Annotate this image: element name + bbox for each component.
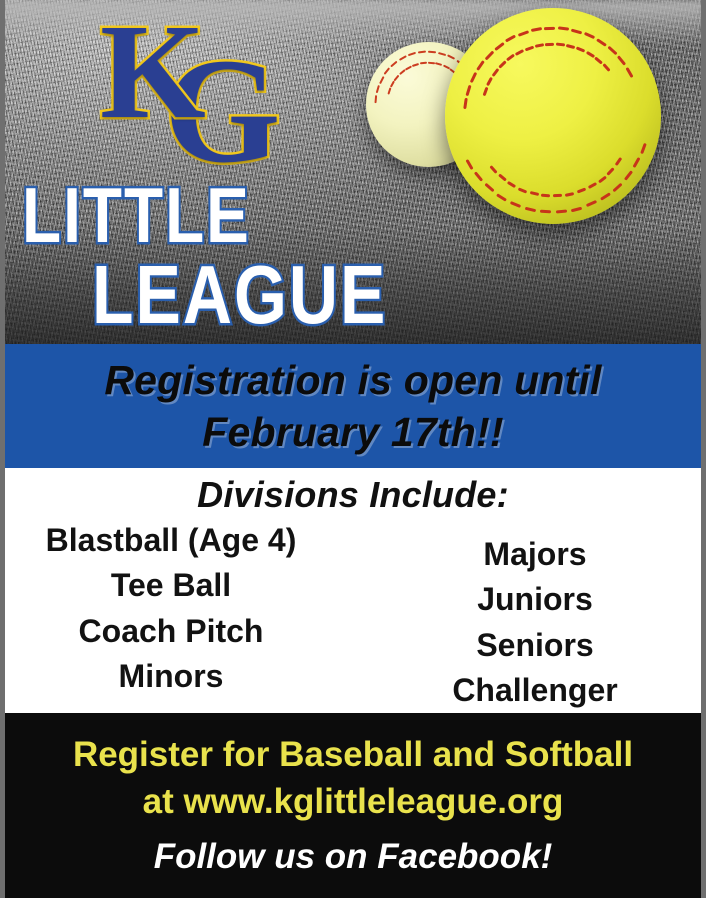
divisions-section: Divisions Include: Blastball (Age 4) Tee…: [0, 468, 706, 713]
division-item: Coach Pitch: [79, 609, 264, 654]
footer-website-link[interactable]: at www.kglittleleague.org: [143, 779, 564, 826]
divisions-left-column: Blastball (Age 4) Tee Ball Coach Pitch M…: [8, 518, 346, 714]
division-item: Challenger: [452, 668, 617, 713]
softball-large-icon: [445, 8, 661, 224]
registration-line-2: February 17th!!: [202, 406, 503, 458]
division-item: Tee Ball: [111, 563, 231, 608]
division-item: Blastball (Age 4): [46, 518, 297, 563]
header-photo: K G LITTLE LEAGUE: [0, 0, 706, 345]
registration-line-1: Registration is open until: [104, 354, 601, 406]
divisions-heading: Divisions Include:: [0, 474, 706, 516]
division-item: Majors: [483, 532, 586, 577]
divisions-columns: Blastball (Age 4) Tee Ball Coach Pitch M…: [0, 518, 706, 714]
kg-monogram-logo: K G: [96, 2, 296, 180]
footer-section: Register for Baseball and Softball at ww…: [0, 713, 706, 898]
little-league-registration-flyer: K G LITTLE LEAGUE Registration is open u…: [0, 0, 706, 898]
division-item: Juniors: [477, 577, 593, 622]
division-item: Seniors: [476, 623, 593, 668]
footer-facebook-line: Follow us on Facebook!: [154, 834, 553, 880]
divisions-right-column: Majors Juniors Seniors Challenger: [346, 518, 698, 714]
page-edge-right: [701, 0, 706, 898]
page-edge-left: [0, 0, 5, 898]
wordmark-league: LEAGUE: [92, 247, 387, 342]
registration-banner: Registration is open until February 17th…: [0, 344, 706, 468]
monogram-letter-k: K: [100, 4, 200, 140]
footer-register-line: Register for Baseball and Softball: [73, 732, 633, 779]
division-item: Minors: [119, 654, 224, 699]
